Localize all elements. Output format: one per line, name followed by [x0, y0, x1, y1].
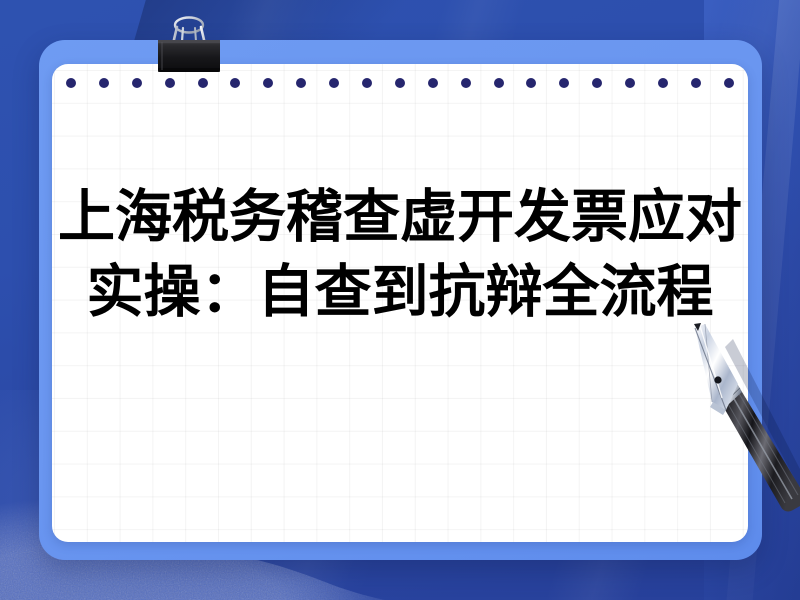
- punch-dot: [461, 78, 471, 88]
- poster-canvas: 上海税务稽查虚开发票应对实操：自查到抗辩全流程: [0, 0, 800, 600]
- punch-dot: [559, 78, 569, 88]
- punch-dot: [592, 78, 602, 88]
- note-paper: 上海税务稽查虚开发票应对实操：自查到抗辩全流程: [52, 64, 748, 542]
- punch-dot: [66, 78, 76, 88]
- punch-dot: [99, 78, 109, 88]
- punch-dot: [625, 78, 635, 88]
- punch-dot: [296, 78, 306, 88]
- punch-dot: [132, 78, 142, 88]
- punch-dot: [395, 78, 405, 88]
- punch-dot: [494, 78, 504, 88]
- binder-clip-icon: [150, 14, 228, 82]
- punch-dot: [362, 78, 372, 88]
- punch-dot: [428, 78, 438, 88]
- punch-dot: [230, 78, 240, 88]
- punch-dot: [263, 78, 273, 88]
- punch-dot: [691, 78, 701, 88]
- punch-dot: [329, 78, 339, 88]
- punch-dot: [724, 78, 734, 88]
- page-title: 上海税务稽查虚开发票应对实操：自查到抗辩全流程: [52, 180, 748, 330]
- punch-dot: [658, 78, 668, 88]
- punch-dot: [526, 78, 536, 88]
